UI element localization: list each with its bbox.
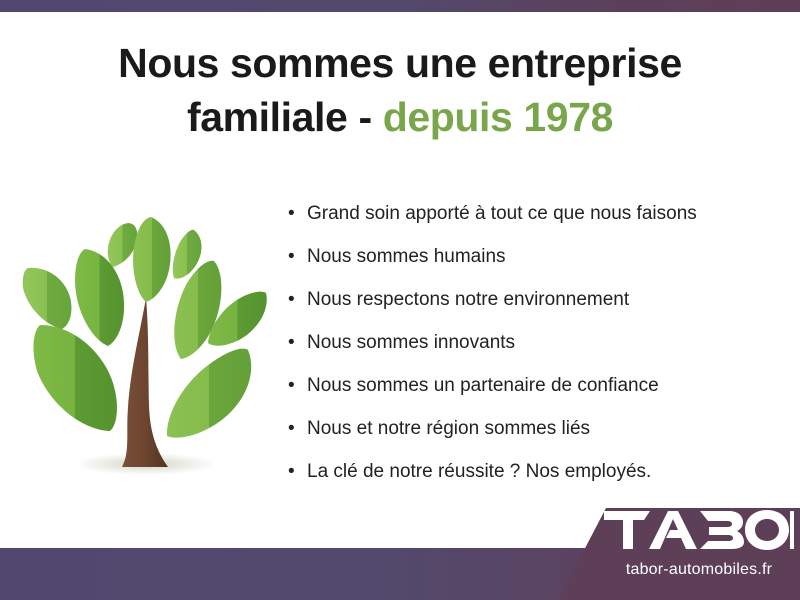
list-item-label: Nous sommes innovants bbox=[307, 332, 515, 353]
list-item: • Nous respectons notre environnement bbox=[286, 278, 786, 321]
tabor-logo-icon bbox=[604, 508, 794, 550]
list-item: • Nous sommes humains bbox=[286, 235, 786, 278]
bullet-marker: • bbox=[288, 192, 295, 235]
bullet-marker: • bbox=[288, 235, 295, 278]
list-item-label: Grand soin apporté à tout ce que nous fa… bbox=[307, 203, 697, 224]
page-title-accent: depuis 1978 bbox=[383, 94, 613, 140]
bullet-marker: • bbox=[288, 407, 295, 450]
list-item: • Nous sommes innovants bbox=[286, 321, 786, 364]
page-title-line1: Nous sommes une entreprise bbox=[118, 40, 682, 86]
logo-url-label: tabor-automobiles.fr bbox=[604, 561, 794, 579]
list-item-label: Nous et notre région sommes liés bbox=[307, 418, 590, 439]
list-item: • Nous sommes un partenaire de confiance bbox=[286, 364, 786, 407]
page-title-line2: familiale - bbox=[187, 94, 383, 140]
list-item-label: Nous respectons notre environnement bbox=[307, 289, 629, 310]
leaf-lower-right bbox=[167, 349, 251, 438]
leaf-top-left bbox=[108, 223, 138, 267]
tree-trunk bbox=[122, 298, 168, 467]
slide-canvas: Nous sommes une entreprise familiale - d… bbox=[0, 0, 800, 600]
list-item-label: La clé de notre réussite ? Nos employés. bbox=[307, 461, 651, 482]
list-item-label: Nous sommes humains bbox=[307, 246, 506, 267]
leaf-top-center bbox=[133, 217, 171, 302]
top-accent-bar bbox=[0, 0, 800, 12]
list-item: • Grand soin apporté à tout ce que nous … bbox=[286, 192, 786, 235]
value-list: • Grand soin apporté à tout ce que nous … bbox=[286, 192, 786, 493]
bullet-marker: • bbox=[288, 450, 295, 493]
list-item: • Nous et notre région sommes liés bbox=[286, 407, 786, 450]
list-item-label: Nous sommes un partenaire de confiance bbox=[307, 375, 659, 396]
bullet-marker: • bbox=[288, 278, 295, 321]
bullet-marker: • bbox=[288, 364, 295, 407]
bullet-marker: • bbox=[288, 321, 295, 364]
list-item: • La clé de notre réussite ? Nos employé… bbox=[286, 450, 786, 493]
page-title: Nous sommes une entreprise familiale - d… bbox=[0, 36, 800, 144]
tree-illustration bbox=[18, 192, 273, 492]
leaf-far-left bbox=[23, 268, 72, 329]
